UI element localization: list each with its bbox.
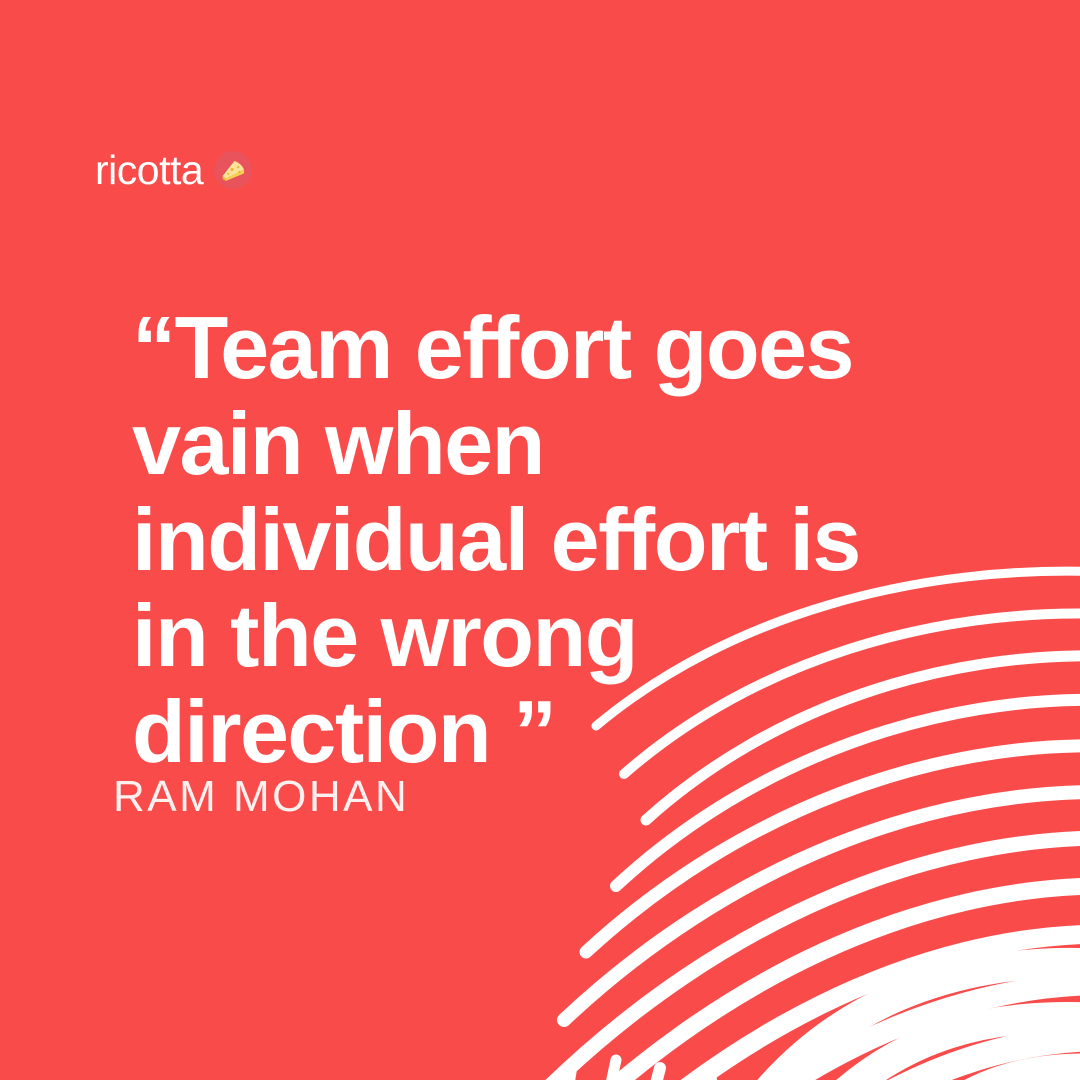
quote-card: ricotta “Team effort goes vain when indi… [0,0,1080,1080]
quote-text: “Team effort goes vain when individual e… [132,300,1032,780]
brand-logo: ricotta [95,145,252,195]
cheese-wedge-icon [214,151,252,189]
quote-author: RAM MOHAN [113,775,409,819]
brand-name: ricotta [95,150,203,191]
